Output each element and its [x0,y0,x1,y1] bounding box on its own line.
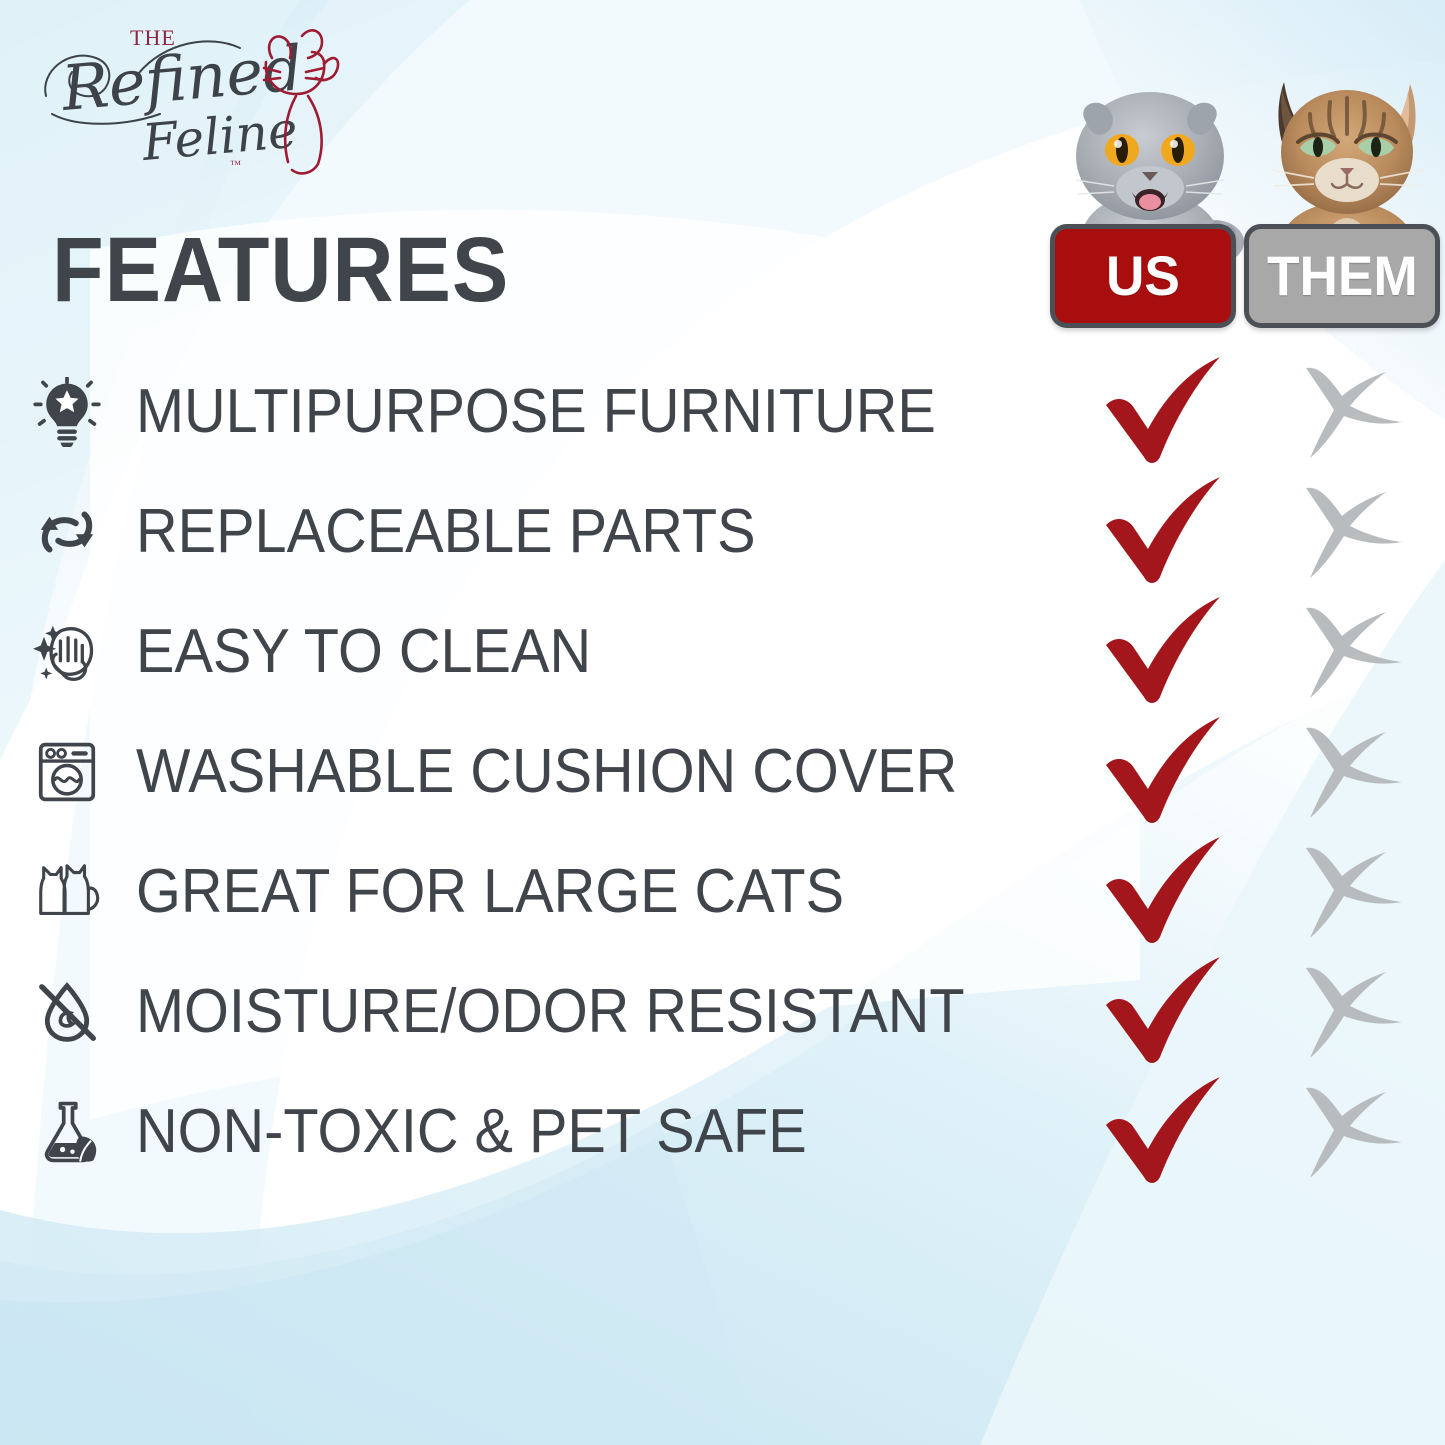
feature-label: NON-TOXIC & PET SAFE [136,1101,807,1163]
feature-label: EASY TO CLEAN [136,621,591,683]
feature-row: REPLACEABLE PARTS [0,472,1445,592]
feature-row: GREAT FOR LARGE CATS [0,832,1445,952]
gray-x-icon [1300,362,1404,462]
infographic-canvas: THE Refined Feline ™ FEATURES [0,0,1445,1445]
logo-trademark: ™ [230,159,241,171]
feature-row: MOISTURE/ODOR RESISTANT [0,952,1445,1072]
feature-label: REPLACEABLE PARTS [136,501,756,563]
red-checkmark-icon [1104,837,1224,947]
lightbulb-star-icon [32,377,102,447]
recycle-arrows-icon [32,497,102,567]
gray-x-icon [1300,842,1404,942]
wiping-hand-sparkle-icon [32,617,102,687]
page-title: FEATURES [52,224,509,316]
feature-label: MOISTURE/ODOR RESISTANT [136,981,965,1043]
gray-x-icon [1300,1082,1404,1182]
comparison-header: US THEM [1046,60,1438,332]
feature-label: WASHABLE CUSHION COVER [136,741,957,803]
gray-x-icon [1300,722,1404,822]
gray-x-icon [1300,482,1404,582]
feature-label: MULTIPURPOSE FURNITURE [136,381,936,443]
red-checkmark-icon [1104,1077,1224,1187]
red-checkmark-icon [1104,357,1224,467]
feature-row: MULTIPURPOSE FURNITURE [0,352,1445,472]
logo-line-feline: Feline [139,101,300,172]
feature-row: WASHABLE CUSHION COVER [0,712,1445,832]
gray-x-icon [1300,962,1404,1062]
refined-feline-logo: THE Refined Feline ™ [34,18,344,180]
badge-them-label: THEM [1267,248,1418,304]
gray-x-icon [1300,602,1404,702]
red-checkmark-icon [1104,477,1224,587]
red-checkmark-icon [1104,597,1224,707]
feature-label: GREAT FOR LARGE CATS [136,861,844,923]
red-checkmark-icon [1104,957,1224,1067]
feature-row: NON-TOXIC & PET SAFE [0,1072,1445,1192]
flask-leaf-icon [32,1097,102,1167]
red-checkmark-icon [1104,717,1224,827]
feature-list: MULTIPURPOSE FURNITURE REPLACEABLE PARTS [0,352,1445,1192]
badge-us-label: US [1106,248,1180,304]
badge-us[interactable]: US [1050,224,1236,328]
washing-machine-icon [32,737,102,807]
two-cats-icon [32,857,102,927]
feature-row: EASY TO CLEAN [0,592,1445,712]
badge-them[interactable]: THEM [1244,224,1440,328]
no-water-drop-icon [32,977,102,1047]
